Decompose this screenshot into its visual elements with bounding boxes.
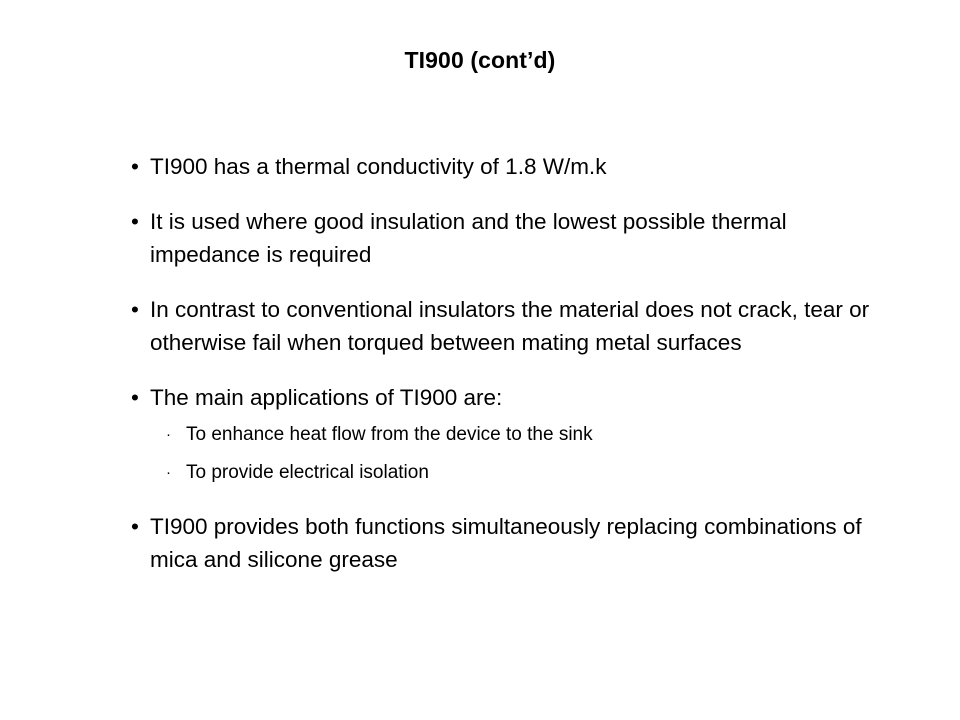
sub-bullet-item: · To enhance heat flow from the device t… (164, 420, 888, 450)
bullet-marker-icon: • (131, 381, 145, 414)
bullet-marker-icon: • (131, 205, 145, 238)
bullet-text: In contrast to conventional insulators t… (150, 293, 888, 359)
bullet-item: • The main applications of TI900 are: · … (128, 381, 888, 488)
slide: TI900 (cont’d) • TI900 has a thermal con… (0, 0, 960, 720)
bullet-list: • TI900 has a thermal conductivity of 1.… (128, 150, 888, 576)
slide-title: TI900 (cont’d) (0, 46, 960, 74)
bullet-marker-icon: • (131, 293, 145, 326)
bullet-item: • TI900 has a thermal conductivity of 1.… (128, 150, 888, 183)
bullet-marker-icon: • (131, 510, 145, 543)
bullet-marker-icon: • (131, 150, 145, 183)
sub-bullet-list: · To enhance heat flow from the device t… (150, 420, 888, 488)
bullet-text: TI900 provides both functions simultaneo… (150, 510, 888, 576)
sub-bullet-marker-icon: · (166, 420, 178, 450)
bullet-text: It is used where good insulation and the… (150, 205, 888, 271)
sub-bullet-text: To provide electrical isolation (186, 458, 888, 488)
sub-bullet-text: To enhance heat flow from the device to … (186, 420, 888, 450)
bullet-item: • It is used where good insulation and t… (128, 205, 888, 271)
bullet-text: The main applications of TI900 are: (150, 381, 888, 414)
sub-bullet-item: · To provide electrical isolation (164, 458, 888, 488)
bullet-text: TI900 has a thermal conductivity of 1.8 … (150, 150, 888, 183)
bullet-item: • In contrast to conventional insulators… (128, 293, 888, 359)
sub-bullet-marker-icon: · (166, 458, 178, 488)
bullet-item: • TI900 provides both functions simultan… (128, 510, 888, 576)
